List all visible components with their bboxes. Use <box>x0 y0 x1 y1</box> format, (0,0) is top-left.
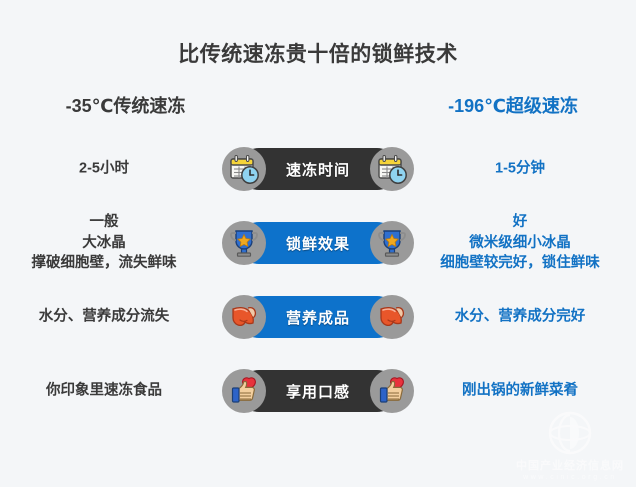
row-left-text: 一般 大冰晶 撑破细胞壁，流失鲜味 <box>4 212 204 274</box>
row-pill: 享用口感 <box>222 370 414 412</box>
row-left-line: 你印象里速冻食品 <box>4 381 204 402</box>
row-right-line: 好 <box>406 212 634 233</box>
row-left-line: 一般 <box>4 212 204 233</box>
header-super-freezing: -196℃超级速冻 <box>398 92 628 118</box>
pill-label: 享用口感 <box>286 381 350 402</box>
page-title: 比传统速冻贵十倍的锁鲜技术 <box>0 38 636 68</box>
column-headers: -35℃传统速冻 -196℃超级速冻 <box>0 92 636 124</box>
watermark-name: 中国产业经济信息网 <box>514 457 626 473</box>
row-left-text: 2-5小时 <box>4 159 204 180</box>
comparison-row: 一般 大冰晶 撑破细胞壁，流失鲜味 锁鲜效果 <box>0 206 636 280</box>
row-left-line: 水分、营养成分流失 <box>4 307 204 328</box>
row-left-text: 水分、营养成分流失 <box>4 307 204 328</box>
comparison-row: 水分、营养成分流失 营养成品 <box>0 280 636 354</box>
row-pill: 锁鲜效果 <box>222 222 414 264</box>
flexed-biceps-icon <box>222 295 266 339</box>
row-pill: 营养成品 <box>222 296 414 338</box>
row-right-text: 好 微米级细小冰晶 细胞壁较完好，锁住鲜味 <box>406 212 634 274</box>
calendar-clock-icon <box>222 147 266 191</box>
comparison-row: 2-5小时 速冻时间 <box>0 132 636 206</box>
row-left-text: 你印象里速冻食品 <box>4 381 204 402</box>
row-right-line: 刚出锅的新鲜菜肴 <box>406 381 634 402</box>
row-left-line: 大冰晶 <box>4 233 204 254</box>
row-right-line: 微米级细小冰晶 <box>406 233 634 254</box>
pill-label: 速冻时间 <box>286 159 350 180</box>
row-right-line: 细胞壁较完好，锁住鲜味 <box>406 253 634 274</box>
row-right-text: 刚出锅的新鲜菜肴 <box>406 381 634 402</box>
row-pill: 速冻时间 <box>222 148 414 190</box>
comparison-rows: 2-5小时 速冻时间 <box>0 132 636 428</box>
row-left-line: 撑破细胞壁，流失鲜味 <box>4 253 204 274</box>
row-left-line: 2-5小时 <box>4 159 204 180</box>
pill-label: 锁鲜效果 <box>286 233 350 254</box>
row-right-text: 1-5分钟 <box>406 159 634 180</box>
comparison-row: 你印象里速冻食品 享用口感 <box>0 354 636 428</box>
row-right-line: 1-5分钟 <box>406 159 634 180</box>
pill-label: 营养成品 <box>286 307 350 328</box>
row-right-text: 水分、营养成分完好 <box>406 307 634 328</box>
thumbs-up-heart-icon <box>222 369 266 413</box>
trophy-icon <box>222 221 266 265</box>
watermark-url: www.cinic.org.cn <box>514 474 626 481</box>
row-right-line: 水分、营养成分完好 <box>406 307 634 328</box>
header-traditional-freezing: -35℃传统速冻 <box>18 92 233 118</box>
